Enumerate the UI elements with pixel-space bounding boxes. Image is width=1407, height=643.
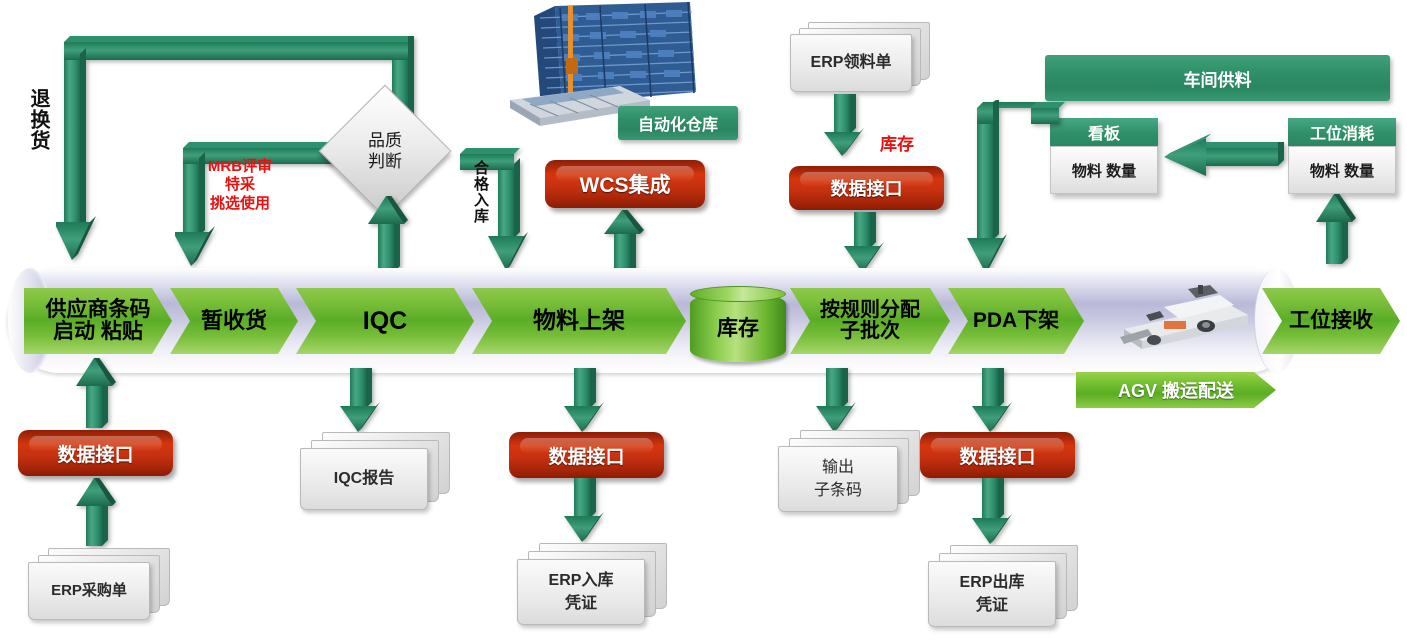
erp-outbound-doc-stack[interactable]: ERP出库 凭证: [928, 545, 1086, 637]
inbound-down-arrow: [560, 368, 608, 434]
station-consume-up-arrow: [1312, 194, 1360, 266]
inbound-doc-down-arrow: [560, 478, 608, 544]
consume-to-kanban-arrow: [1160, 134, 1285, 184]
doc-sheet-front: IQC报告: [300, 448, 428, 510]
purchase-up-arrow: [72, 358, 120, 430]
step-label-line1: 供应商条码: [46, 299, 151, 321]
doc-sheet-front: ERP出库 凭证: [928, 561, 1056, 627]
sub-barcode-line-1: 输出: [822, 456, 854, 479]
erp-purchase-doc-stack[interactable]: ERP采购单: [28, 548, 176, 626]
step-label-line1: 按规则分配: [820, 300, 920, 321]
station-consume-header: 工位消耗: [1288, 118, 1396, 146]
pipeline-step-supplier-barcode[interactable]: 供应商条码 启动 粘贴: [24, 288, 172, 354]
decision-line-2: 判断: [368, 151, 402, 172]
pipeline-step-allocate-sublot[interactable]: 按规则分配 子批次: [790, 288, 950, 354]
sub-barcode-line-2: 子条码: [814, 479, 862, 502]
iqc-report-doc-stack[interactable]: IQC报告: [300, 432, 458, 518]
supply-to-pda-arrow: [955, 100, 1065, 275]
return-label: 退换货: [24, 88, 53, 151]
station-consume-body: 物料 数量: [1288, 146, 1396, 194]
mrb-line-2: 特采: [190, 176, 290, 194]
mrb-line-1: MRB评审: [190, 158, 290, 176]
inbound-doc-line-1: ERP入库: [549, 569, 614, 592]
sub-barcode-down-arrow: [812, 368, 860, 434]
agv-vehicle-photo: [1102, 283, 1252, 355]
purchase-interface-box[interactable]: 数据接口: [18, 430, 173, 476]
workshop-supply-banner: 车间供料: [1045, 55, 1390, 101]
outbound-interface-box[interactable]: 数据接口: [920, 432, 1075, 478]
sub-barcode-doc-stack[interactable]: 输出 子条码: [778, 430, 926, 522]
step-label: IQC: [363, 308, 407, 334]
purchase-doc-up-arrow: [72, 478, 120, 548]
step-label: 暂收货: [201, 310, 267, 333]
iqc-to-decision-arrow: [364, 196, 408, 274]
warehouse-caption: 自动化仓库: [618, 106, 738, 140]
erp-issue-down-arrow: [820, 94, 868, 158]
outbound-doc-line-2: 凭证: [976, 594, 1008, 617]
doc-sheet-front: 输出 子条码: [778, 446, 898, 512]
pass-label: 合格入库: [470, 160, 491, 224]
inventory-note: 库存: [880, 130, 914, 155]
wcs-integration-box[interactable]: WCS集成: [545, 160, 705, 208]
kanban-card[interactable]: 看板 物料 数量: [1050, 118, 1158, 194]
agv-transport-banner: AGV 搬运配送: [1076, 372, 1276, 408]
kanban-header: 看板: [1050, 118, 1158, 146]
decision-line-1: 品质: [368, 130, 402, 151]
pipeline-step-pda-picking[interactable]: PDA下架: [948, 288, 1084, 354]
kanban-body: 物料 数量: [1050, 146, 1158, 194]
pipeline-step-material-shelving[interactable]: 物料上架: [472, 288, 686, 354]
outbound-down-arrow: [968, 368, 1016, 434]
pipeline-step-station-receive[interactable]: 工位接收: [1262, 288, 1400, 354]
inbound-interface-box[interactable]: 数据接口: [509, 432, 664, 478]
step-label-line2: 启动 粘贴: [46, 321, 151, 343]
inventory-label: 库存: [717, 312, 759, 342]
inbound-doc-line-2: 凭证: [565, 592, 597, 615]
wcs-up-arrow: [600, 210, 648, 276]
doc-sheet-front: ERP采购单: [28, 562, 150, 620]
step-label: 物料上架: [533, 309, 625, 333]
step-label: PDA下架: [973, 310, 1059, 332]
issue-interface-down-arrow: [840, 212, 888, 274]
step-label: 工位接收: [1289, 310, 1373, 332]
step-label-line2: 子批次: [820, 321, 920, 342]
diagram-canvas: 退换货 MRB评审 特采 挑选使用 品质 判断: [0, 0, 1407, 643]
iqc-report-down-arrow: [336, 368, 384, 434]
erp-inbound-doc-stack[interactable]: ERP入库 凭证: [517, 543, 675, 635]
erp-issue-interface-box[interactable]: 数据接口: [789, 166, 944, 210]
doc-sheet-front: ERP入库 凭证: [517, 559, 645, 625]
outbound-doc-line-1: ERP出库: [960, 571, 1025, 594]
station-consume-card[interactable]: 工位消耗 物料 数量: [1288, 118, 1396, 194]
erp-issue-doc-stack[interactable]: ERP领料单: [790, 22, 935, 94]
mrb-line-3: 挑选使用: [190, 195, 290, 213]
doc-sheet-front: ERP领料单: [790, 34, 912, 92]
mrb-review-text: MRB评审 特采 挑选使用: [190, 158, 290, 213]
inventory-cylinder[interactable]: 库存: [690, 292, 786, 362]
pipeline-step-iqc[interactable]: IQC: [296, 288, 474, 354]
outbound-doc-down-arrow: [968, 478, 1016, 546]
